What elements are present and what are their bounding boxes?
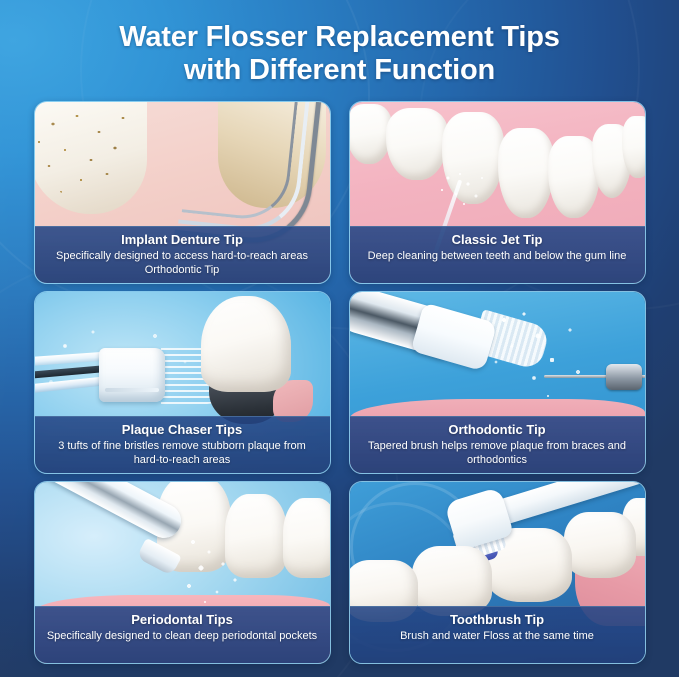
card-orthodontic-tip[interactable]: Orthodontic Tip Tapered brush helps remo… [349,291,646,474]
card-periodontal-tips[interactable]: Periodontal Tips Specifically designed t… [34,481,331,664]
card-description: Brush and water Floss at the same time [350,628,645,643]
page-title: Water Flosser Replacement Tips with Diff… [0,0,679,87]
card-title: Periodontal Tips [35,612,330,628]
card-description: Specifically designed to clean deep peri… [35,628,330,643]
page-title-line-1: Water Flosser Replacement Tips [0,21,679,54]
card-caption: Toothbrush Tip Brush and water Floss at … [350,606,645,663]
nozzle-slot [105,388,159,392]
water-splash [482,310,602,406]
card-title: Classic Jet Tip [350,232,645,248]
tooth-4 [564,512,636,578]
tips-grid: Implant Denture Tip Specifically designe… [34,101,646,664]
card-title: Implant Denture Tip [35,232,330,248]
card-implant-denture-tip[interactable]: Implant Denture Tip Specifically designe… [34,101,331,284]
card-caption: Orthodontic Tip Tapered brush helps remo… [350,416,645,473]
card-plaque-chaser-tips[interactable]: Plaque Chaser Tips 3 tufts of fine brist… [34,291,331,474]
card-caption: Classic Jet Tip Deep cleaning between te… [350,226,645,283]
infographic-root: Water Flosser Replacement Tips with Diff… [0,0,679,677]
card-title: Plaque Chaser Tips [35,422,330,438]
tooth-3 [283,498,330,578]
card-description: 3 tufts of fine bristles remove stubborn… [35,438,330,467]
nozzle-head [99,348,165,402]
tooth-4 [498,128,554,218]
page-title-line-2: with Different Function [0,54,679,87]
braces-bracket [606,364,642,390]
water-spray-droplets [434,170,492,214]
card-description: Deep cleaning between teeth and below th… [350,248,645,263]
water-spray-droplets [175,534,271,608]
card-toothbrush-tip[interactable]: Toothbrush Tip Brush and water Floss at … [349,481,646,664]
tooth-crown [201,296,291,392]
card-title: Toothbrush Tip [350,612,645,628]
plaque-specks [35,102,141,198]
card-description: Specifically designed to access hard-to-… [35,248,330,277]
card-caption: Periodontal Tips Specifically designed t… [35,606,330,663]
card-caption: Plaque Chaser Tips 3 tufts of fine brist… [35,416,330,473]
card-classic-jet-tip[interactable]: Classic Jet Tip Deep cleaning between te… [349,101,646,284]
card-description: Tapered brush helps remove plaque from b… [350,438,645,467]
card-title: Orthodontic Tip [350,422,645,438]
card-caption: Implant Denture Tip Specifically designe… [35,226,330,283]
